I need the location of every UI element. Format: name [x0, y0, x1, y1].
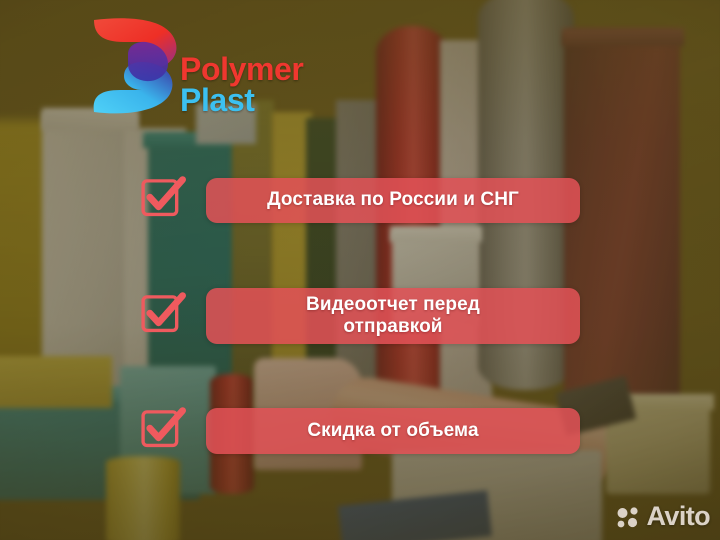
avito-dots-icon	[616, 505, 642, 529]
avito-wordmark: Avito	[647, 501, 711, 532]
bg-frosted-cube-center-top	[390, 226, 482, 242]
feature-pill[interactable]: Видеоотчет перед отправкой	[206, 288, 580, 344]
bg-brown-block-right-top	[562, 28, 684, 46]
bg-amber-column	[232, 100, 274, 400]
checked-checkbox-icon	[141, 405, 189, 453]
feature-label: Скидка от объема	[307, 420, 478, 442]
bg-brown-block-right	[564, 30, 680, 430]
checked-checkbox-icon	[141, 290, 189, 338]
feature-item-volume-discount[interactable]: Скидка от объема	[141, 401, 580, 459]
bg-yellow-cylinder	[106, 456, 180, 540]
polymer-plast-ribbon-logo-icon	[88, 14, 184, 118]
feature-pill[interactable]: Доставка по России и СНГ	[206, 178, 580, 223]
feature-pill[interactable]: Скидка от объема	[206, 408, 580, 454]
feature-label: Доставка по России и СНГ	[267, 189, 519, 211]
checked-checkbox-icon	[141, 174, 189, 222]
brand-name-line-1: Polymer	[180, 54, 303, 85]
feature-item-video-report[interactable]: Видеоотчет перед отправкой	[141, 286, 580, 344]
brand-wordmark: Polymer Plast	[180, 54, 303, 115]
feature-item-delivery[interactable]: Доставка по России и СНГ	[141, 170, 580, 228]
bg-yellow-slab-lower	[0, 356, 112, 408]
brand-logo[interactable]: Polymer Plast	[88, 14, 348, 122]
advertisement-banner: Polymer Plast Доставка по России и СНГ В…	[0, 0, 720, 540]
feature-label: Видеоотчет перед отправкой	[306, 294, 480, 339]
brand-name-line-2: Plast	[180, 85, 303, 116]
avito-watermark: Avito	[616, 501, 711, 532]
